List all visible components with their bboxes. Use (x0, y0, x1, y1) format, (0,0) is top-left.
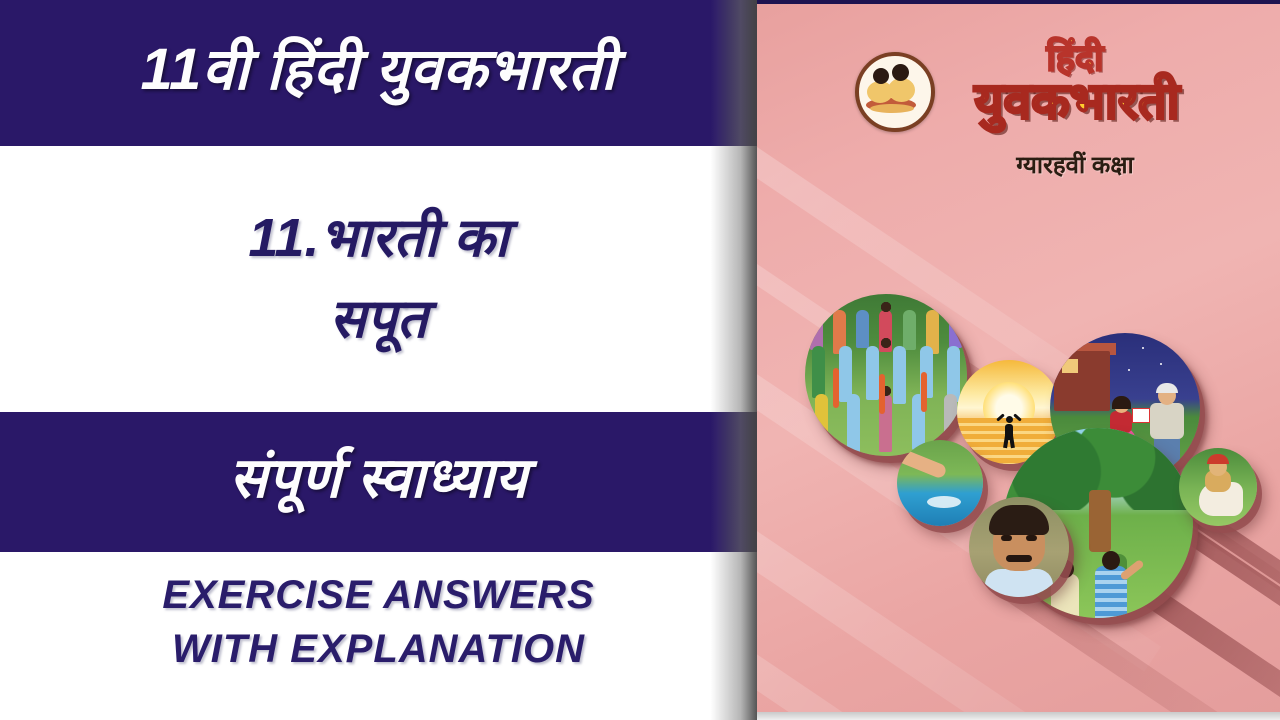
emblem-child-head-left (873, 68, 889, 84)
english-subtitle-line-2: WITH EXPLANATION (172, 622, 585, 676)
book-cover-image: हिंदी युवकभारती ग्यारहवीं कक्षा (757, 0, 1280, 720)
cover-title-text: युवकभारती (897, 76, 1257, 126)
left-text-panel: 11वी हिंदी युवकभारती 11.भारती का सपूत सं… (0, 0, 757, 720)
english-subtitle-block: EXERCISE ANSWERS WITH EXPLANATION (0, 556, 757, 720)
cover-bottom-strip (757, 712, 1280, 720)
illustration-seated-sage (1179, 448, 1257, 526)
cover-class-text: ग्यारहवीं कक्षा (925, 148, 1225, 181)
cover-top-strip (757, 0, 1280, 4)
cover-masthead: हिंदी युवकभारती ग्यारहवीं कक्षा (757, 36, 1280, 216)
video-thumbnail: 11वी हिंदी युवकभारती 11.भारती का सपूत सं… (0, 0, 1280, 720)
book-title-heading: 11वी हिंदी युवकभारती (141, 41, 617, 105)
swadhyay-band: संपूर्ण स्वाध्याय (0, 412, 757, 552)
cover-subject-text: हिंदी (925, 40, 1225, 76)
swadhyay-heading: संपूर्ण स्वाध्याय (229, 450, 527, 514)
band-edge-shadow (717, 0, 757, 146)
top-title-band: 11वी हिंदी युवकभारती (0, 0, 757, 146)
chapter-title-line-2: सपूत (330, 291, 428, 348)
illustration-crowd-of-students (805, 294, 967, 456)
chapter-title-line-1: 11.भारती का (248, 210, 508, 267)
chapter-title-block: 11.भारती का सपूत (0, 150, 757, 408)
illustration-hand-in-water (897, 440, 983, 526)
band-edge-shadow (717, 412, 757, 552)
english-subtitle-line-1: EXERCISE ANSWERS (162, 568, 594, 622)
illustration-man-portrait (969, 497, 1069, 597)
